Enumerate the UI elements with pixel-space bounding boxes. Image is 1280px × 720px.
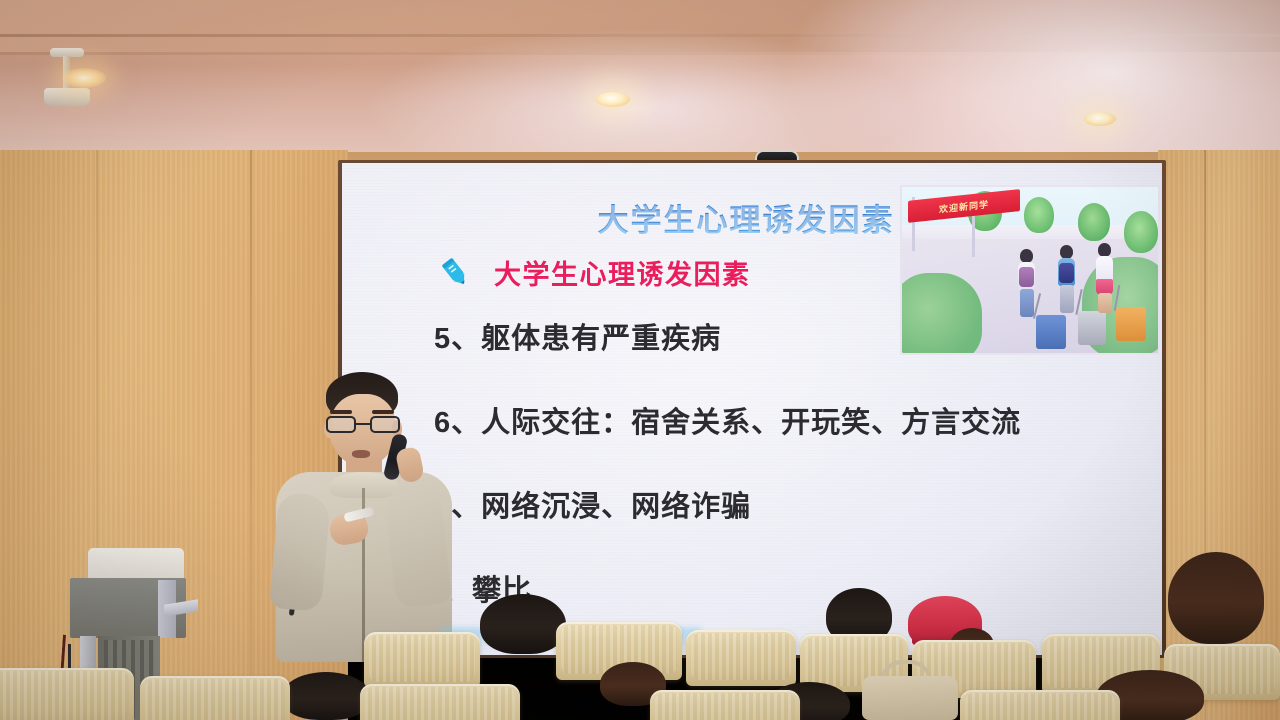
tote-bag [862,676,958,720]
glasses-lens [326,416,356,433]
seat [364,632,480,688]
illustration-student [1054,245,1084,337]
suitcase [1116,307,1146,341]
recessed-downlight [1084,112,1116,126]
audience-head [480,594,566,654]
seat [650,690,800,720]
ceiling-light-wash [330,30,950,160]
illustration-tree [1124,211,1158,253]
bullet-item: 6、人际交往：宿舍关系、开玩笑、方言交流 [434,399,1154,441]
speaker-body [44,88,90,106]
ceiling-lamp-glow [62,68,106,88]
seat [0,668,134,720]
student-legs [1060,285,1074,313]
lecture-hall-photo: 大学生心理诱发因素 大学生心理诱发因素 [0,0,1280,720]
student-backpack [1019,267,1034,287]
projection-screen: 大学生心理诱发因素 大学生心理诱发因素 [342,163,1162,655]
presenter-eyebrow [330,410,352,414]
presenter-mouth [352,450,370,458]
student-backpack [1059,263,1074,283]
seat [360,684,520,720]
illustration-student [1014,249,1044,339]
bullet-item: 7、网络沉浸、网络诈骗 [434,483,1154,525]
student-head [1020,249,1033,263]
presenter-glasses [326,416,402,434]
pencil-icon [438,256,472,290]
presentation-slide: 大学生心理诱发因素 大学生心理诱发因素 [342,163,1162,655]
illustration-tree [1024,197,1054,233]
seat [140,676,290,720]
illustration-bush-left [900,273,982,355]
presenter-eyebrow [372,410,394,414]
presenter-arm [269,492,331,612]
seat [686,630,796,686]
seat [960,690,1120,720]
audience-head [1168,552,1264,644]
illustration-tree [1078,203,1110,241]
audience-head [282,672,370,720]
recessed-downlight [596,92,630,107]
student-legs [1098,293,1112,313]
slide-illustration: 欢迎新同学 [900,185,1160,355]
glasses-lens [370,416,400,433]
student-legs [1020,289,1034,317]
illustration-student [1092,243,1122,335]
student-head [1098,243,1111,257]
student-head [1060,245,1073,259]
presenter [268,372,460,662]
glasses-bridge [356,423,372,425]
ceiling [0,0,1280,160]
slide-subtitle: 大学生心理诱发因素 [494,253,751,292]
